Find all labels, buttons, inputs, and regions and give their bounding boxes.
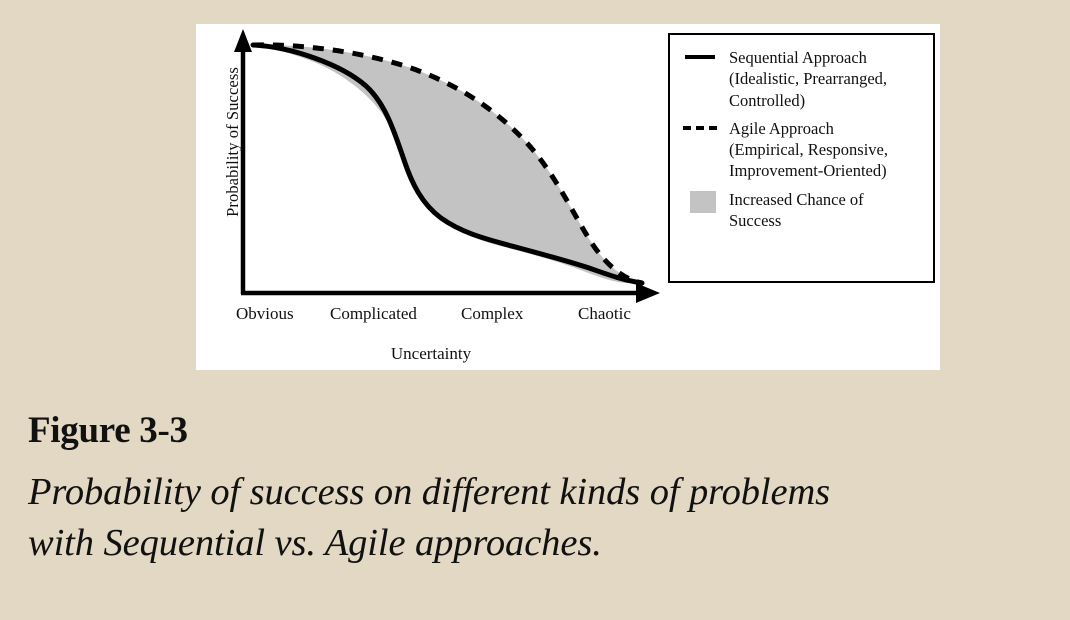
legend-line: (Idealistic, Prearranged, xyxy=(729,68,887,89)
x-tick-label-obvious: Obvious xyxy=(236,304,294,324)
legend-line: Improvement-Oriented) xyxy=(729,160,888,181)
x-tick-label-chaotic: Chaotic xyxy=(578,304,631,324)
legend-line: Sequential Approach xyxy=(729,47,887,68)
caption-line: with Sequential vs. Agile approaches. xyxy=(28,518,1048,570)
figure-caption: Figure 3-3 Probability of success on dif… xyxy=(28,412,1048,570)
chart-legend: Sequential Approach (Idealistic, Prearra… xyxy=(668,33,935,283)
legend-item-increased-chance: Increased Chance of Success xyxy=(682,189,923,232)
legend-item-sequential-approach: Sequential Approach (Idealistic, Prearra… xyxy=(682,47,923,111)
x-tick-label-complicated: Complicated xyxy=(330,304,417,324)
x-tick-label-complex: Complex xyxy=(461,304,523,324)
chart-panel: Probability of Success Obvious Complicat… xyxy=(196,24,940,370)
x-axis-label: Uncertainty xyxy=(196,344,666,364)
legend-item-label: Agile Approach (Empirical, Responsive, I… xyxy=(729,118,888,182)
legend-line: Increased Chance of xyxy=(729,189,864,210)
shaded-area-increased-chance xyxy=(253,45,642,283)
figure-caption-text: Probability of success on different kind… xyxy=(28,467,1048,570)
caption-line: Probability of success on different kind… xyxy=(28,467,1048,519)
figure-page: Probability of Success Obvious Complicat… xyxy=(0,0,1070,620)
x-axis xyxy=(241,283,660,303)
legend-line: Success xyxy=(729,210,864,231)
dashed-line-icon xyxy=(682,118,722,138)
figure-number: Figure 3-3 xyxy=(28,412,1048,451)
legend-item-label: Increased Chance of Success xyxy=(729,189,864,232)
legend-line: Controlled) xyxy=(729,90,887,111)
legend-item-label: Sequential Approach (Idealistic, Prearra… xyxy=(729,47,887,111)
legend-line: Agile Approach xyxy=(729,118,888,139)
legend-item-agile-approach: Agile Approach (Empirical, Responsive, I… xyxy=(682,118,923,182)
y-axis-label: Probability of Success xyxy=(223,37,243,247)
legend-line: (Empirical, Responsive, xyxy=(729,139,888,160)
gray-swatch-icon xyxy=(682,189,722,209)
solid-line-icon xyxy=(682,47,722,67)
